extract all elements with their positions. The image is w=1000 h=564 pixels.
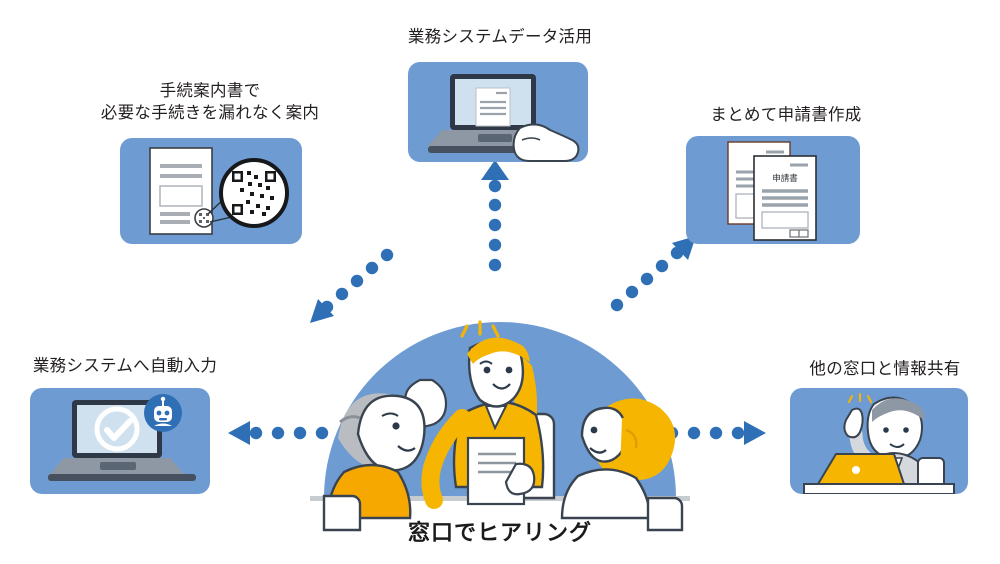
panel-auto-input[interactable] [30,388,210,494]
robot-badge-icon [144,394,182,432]
panel-guide-document[interactable] [120,138,302,244]
arrow-to-system-data-use [481,160,509,271]
panel-system-data-use[interactable] [408,62,588,162]
sparkle-icon [849,394,871,402]
caption-share-info: 他の窓口と情報共有 [770,358,1000,380]
pointing-hand-icon [514,124,579,161]
panel-share-info[interactable] [790,388,968,494]
arrow-to-guide-document [310,249,393,323]
document-with-qr-code-icon [120,138,302,244]
diagram-canvas: 窓口でヒアリング 手続案内書で 必要な手続きを漏れなく案内 [0,0,1000,564]
stacked-application-forms-icon: 申請書 [686,136,860,244]
counter-hearing-illustration [310,318,690,518]
laptop-with-pointing-hand-icon [408,62,588,162]
staff-at-yellow-laptop-icon [790,388,968,494]
caption-auto-input: 業務システムへ自動入力 [10,355,240,377]
caption-guide-document: 手続案内書で 必要な手続きを漏れなく案内 [78,80,342,125]
laptop-with-checkmark-and-robot-icon [30,388,210,494]
panel-bulk-application[interactable]: 申請書 [686,136,860,244]
counter-hearing-scene [310,318,690,518]
caption-system-data-use: 業務システムデータ活用 [370,26,630,48]
center-title: 窓口でヒアリング [330,515,670,547]
form-title: 申請書 [772,173,798,183]
arrow-to-bulk-application [611,236,696,311]
caption-bulk-application: まとめて申請書作成 [672,104,900,126]
